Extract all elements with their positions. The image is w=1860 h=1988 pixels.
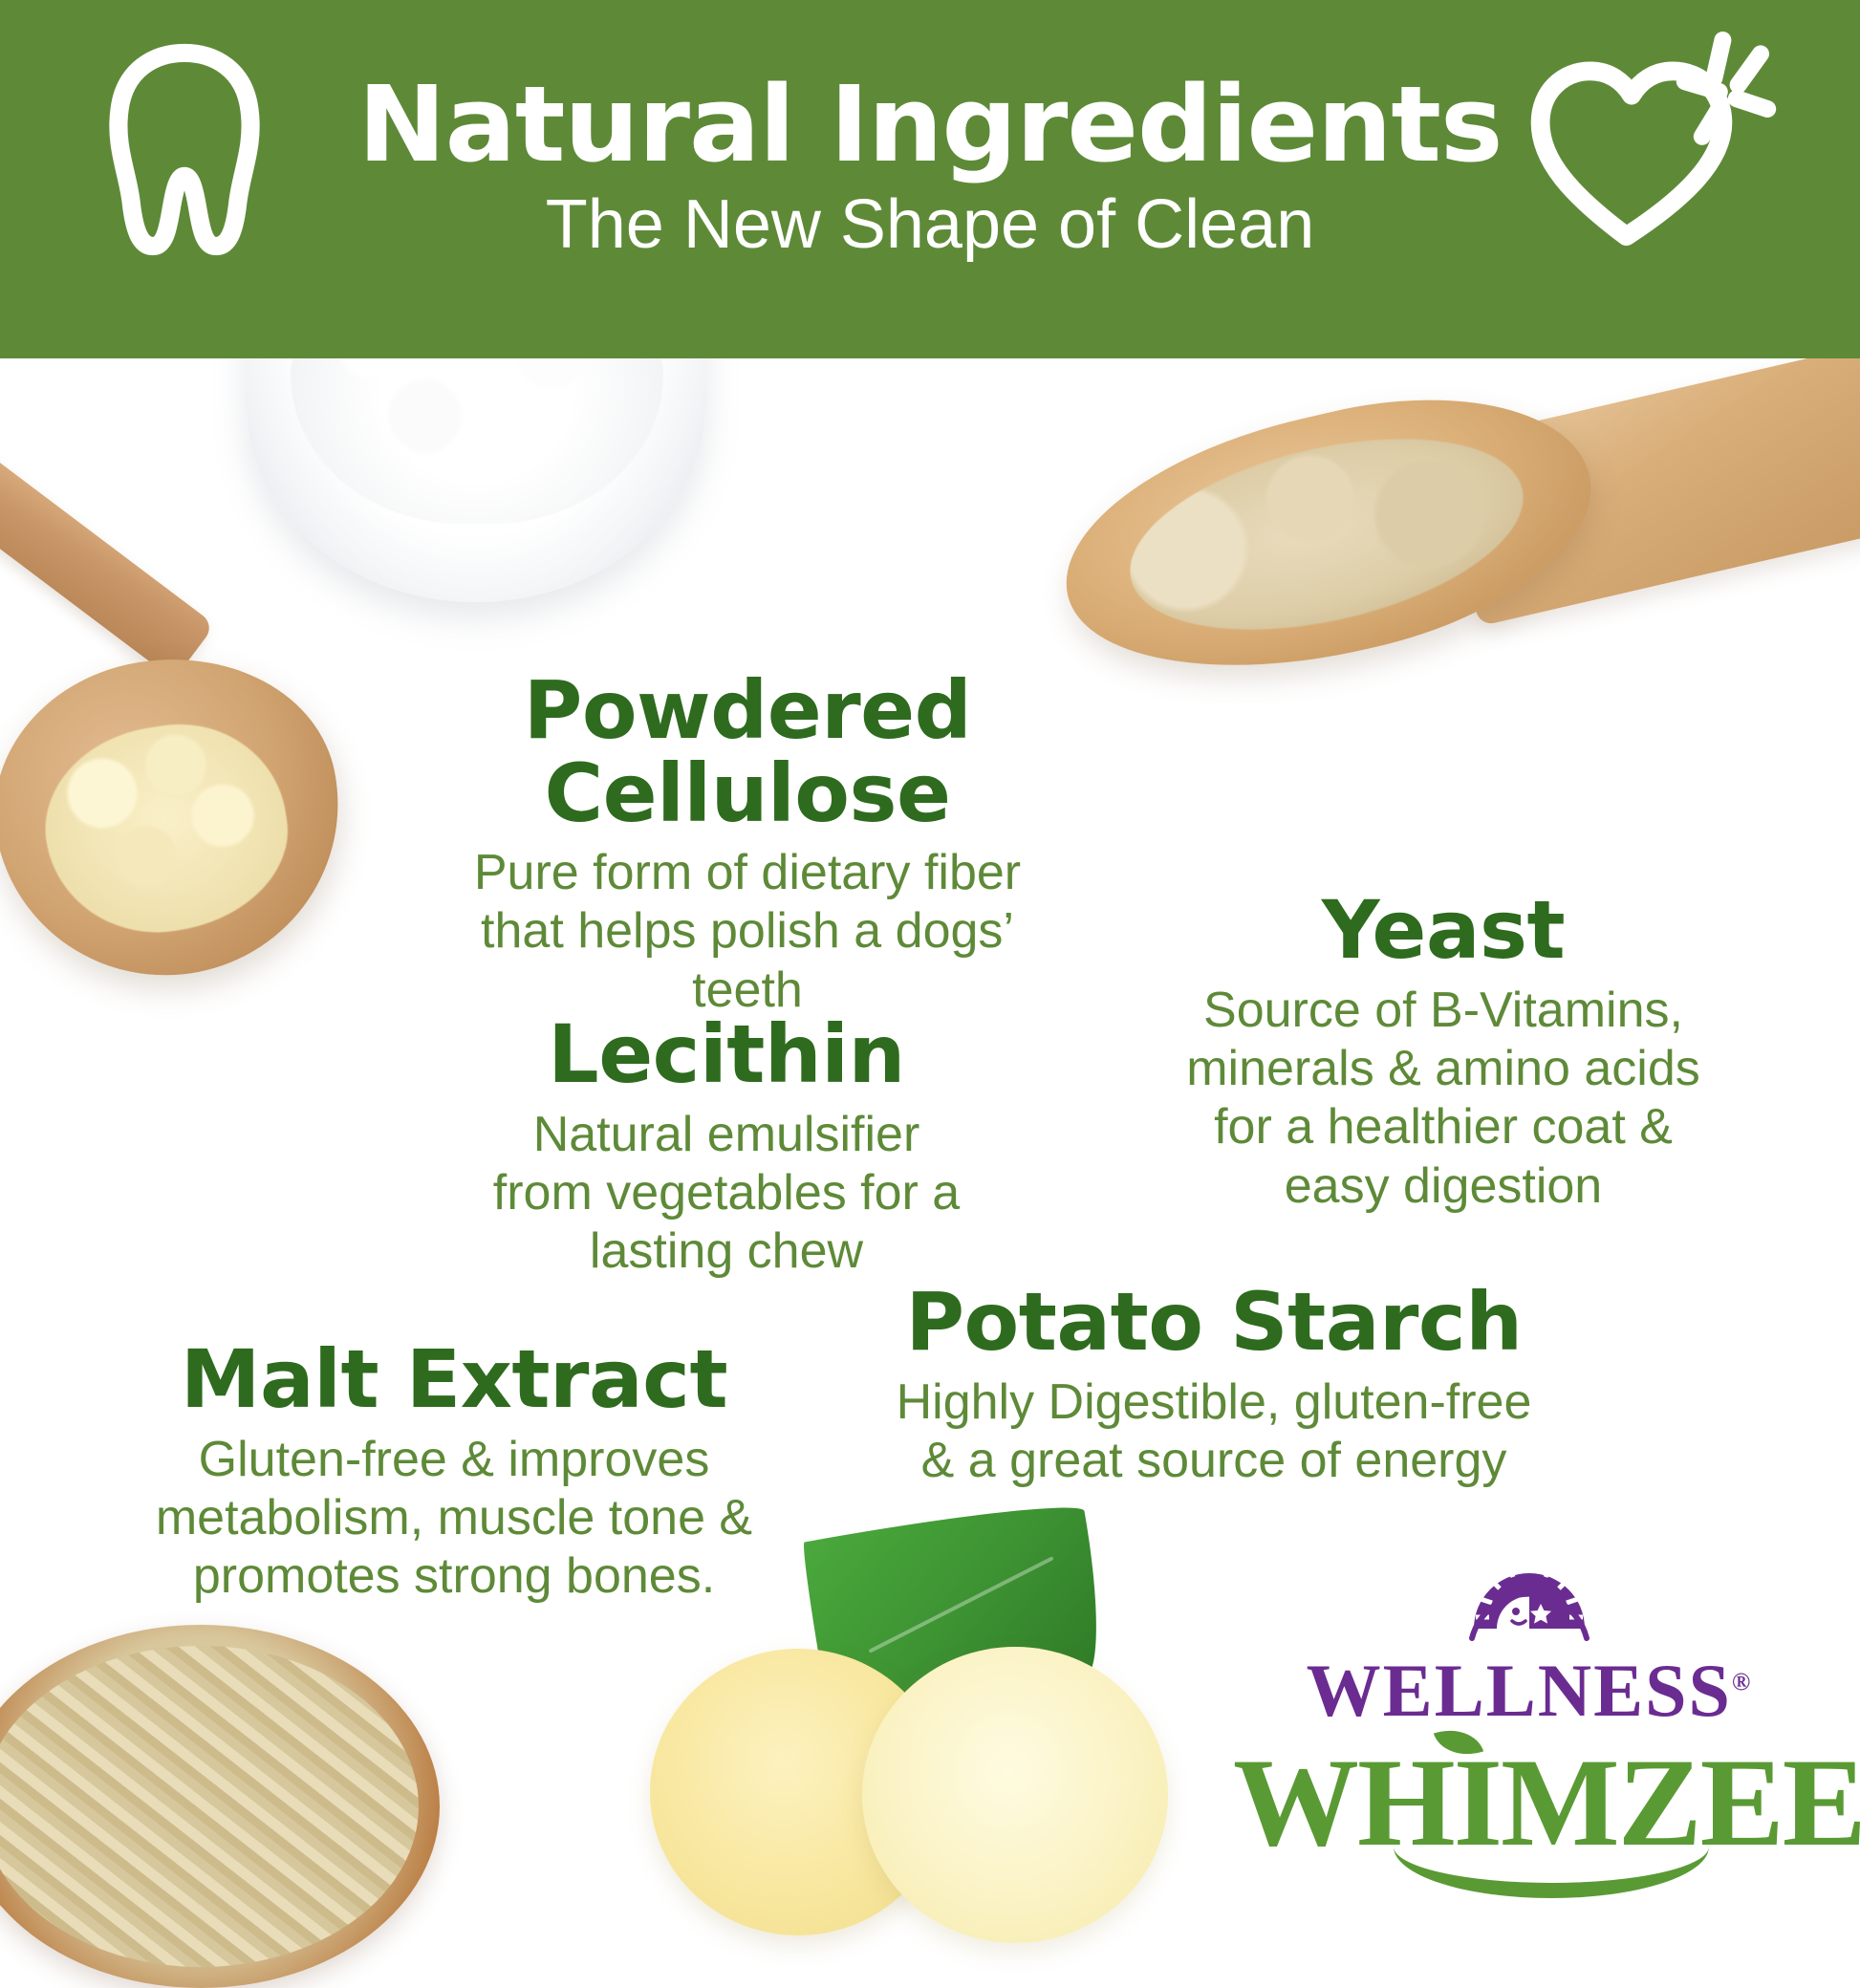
sunburst-face-icon: [1468, 1548, 1590, 1648]
ingredient-block-yeast: Yeast Source of B-Vitamins, minerals & a…: [1157, 889, 1730, 1216]
yeast-photo: [1051, 378, 1860, 664]
whimzees-swoosh: [1394, 1847, 1709, 1898]
ingredient-block-potato-starch: Potato Starch Highly Digestible, gluten-…: [879, 1281, 1548, 1490]
header-band: Natural Ingredients The New Shape of Cle…: [0, 0, 1860, 358]
whimzees-wordmark-row: WHIMZEES®: [1233, 1739, 1826, 1866]
ingredient-block-lecithin: Lecithin Natural emulsifier from vegetab…: [478, 1013, 975, 1282]
brand-logo: WELLNESS® WHIMZEES®: [1233, 1548, 1826, 1835]
header-text-group: Natural Ingredients The New Shape of Cle…: [0, 0, 1860, 358]
barley-grains: [0, 1646, 419, 1967]
lecithin-photo: [0, 411, 401, 1004]
ingredient-block-powdered-cellulose: Powdered Cellulose Pure form of dietary …: [442, 669, 1053, 1020]
ingredient-name-potato-starch: Potato Starch: [879, 1281, 1548, 1364]
wooden-spoon-handle: [0, 435, 215, 680]
ingredient-name-lecithin: Lecithin: [478, 1013, 975, 1096]
ingredient-description-malt-extract: Gluten-free & improves metabolism, muscl…: [148, 1431, 760, 1607]
ingredient-name-malt-extract: Malt Extract: [148, 1338, 760, 1421]
wellness-text: WELLNESS: [1307, 1649, 1732, 1732]
page-subtitle: The New Shape of Clean: [546, 187, 1314, 263]
malt-extract-photo: [0, 1625, 459, 1912]
wellness-registered-mark: ®: [1732, 1668, 1752, 1696]
ingredient-description-lecithin: Natural emulsifier from vegetables for a…: [478, 1106, 975, 1282]
ingredient-name-yeast: Yeast: [1157, 889, 1730, 972]
potato-slice-front: [862, 1647, 1168, 1943]
ingredient-description-powdered-cellulose: Pure form of dietary fiber that helps po…: [442, 844, 1053, 1020]
page-title: Natural Ingredients: [358, 71, 1503, 178]
ingredient-block-malt-extract: Malt Extract Gluten-free & improves meta…: [148, 1338, 760, 1607]
ingredient-description-yeast: Source of B-Vitamins, minerals & amino a…: [1157, 982, 1730, 1216]
barley-bowl: [0, 1625, 440, 1988]
wellness-wordmark: WELLNESS®: [1233, 1653, 1826, 1728]
ingredient-name-powdered-cellulose: Powdered Cellulose: [442, 669, 1053, 834]
ingredient-description-potato-starch: Highly Digestible, gluten-free & a great…: [879, 1373, 1548, 1491]
